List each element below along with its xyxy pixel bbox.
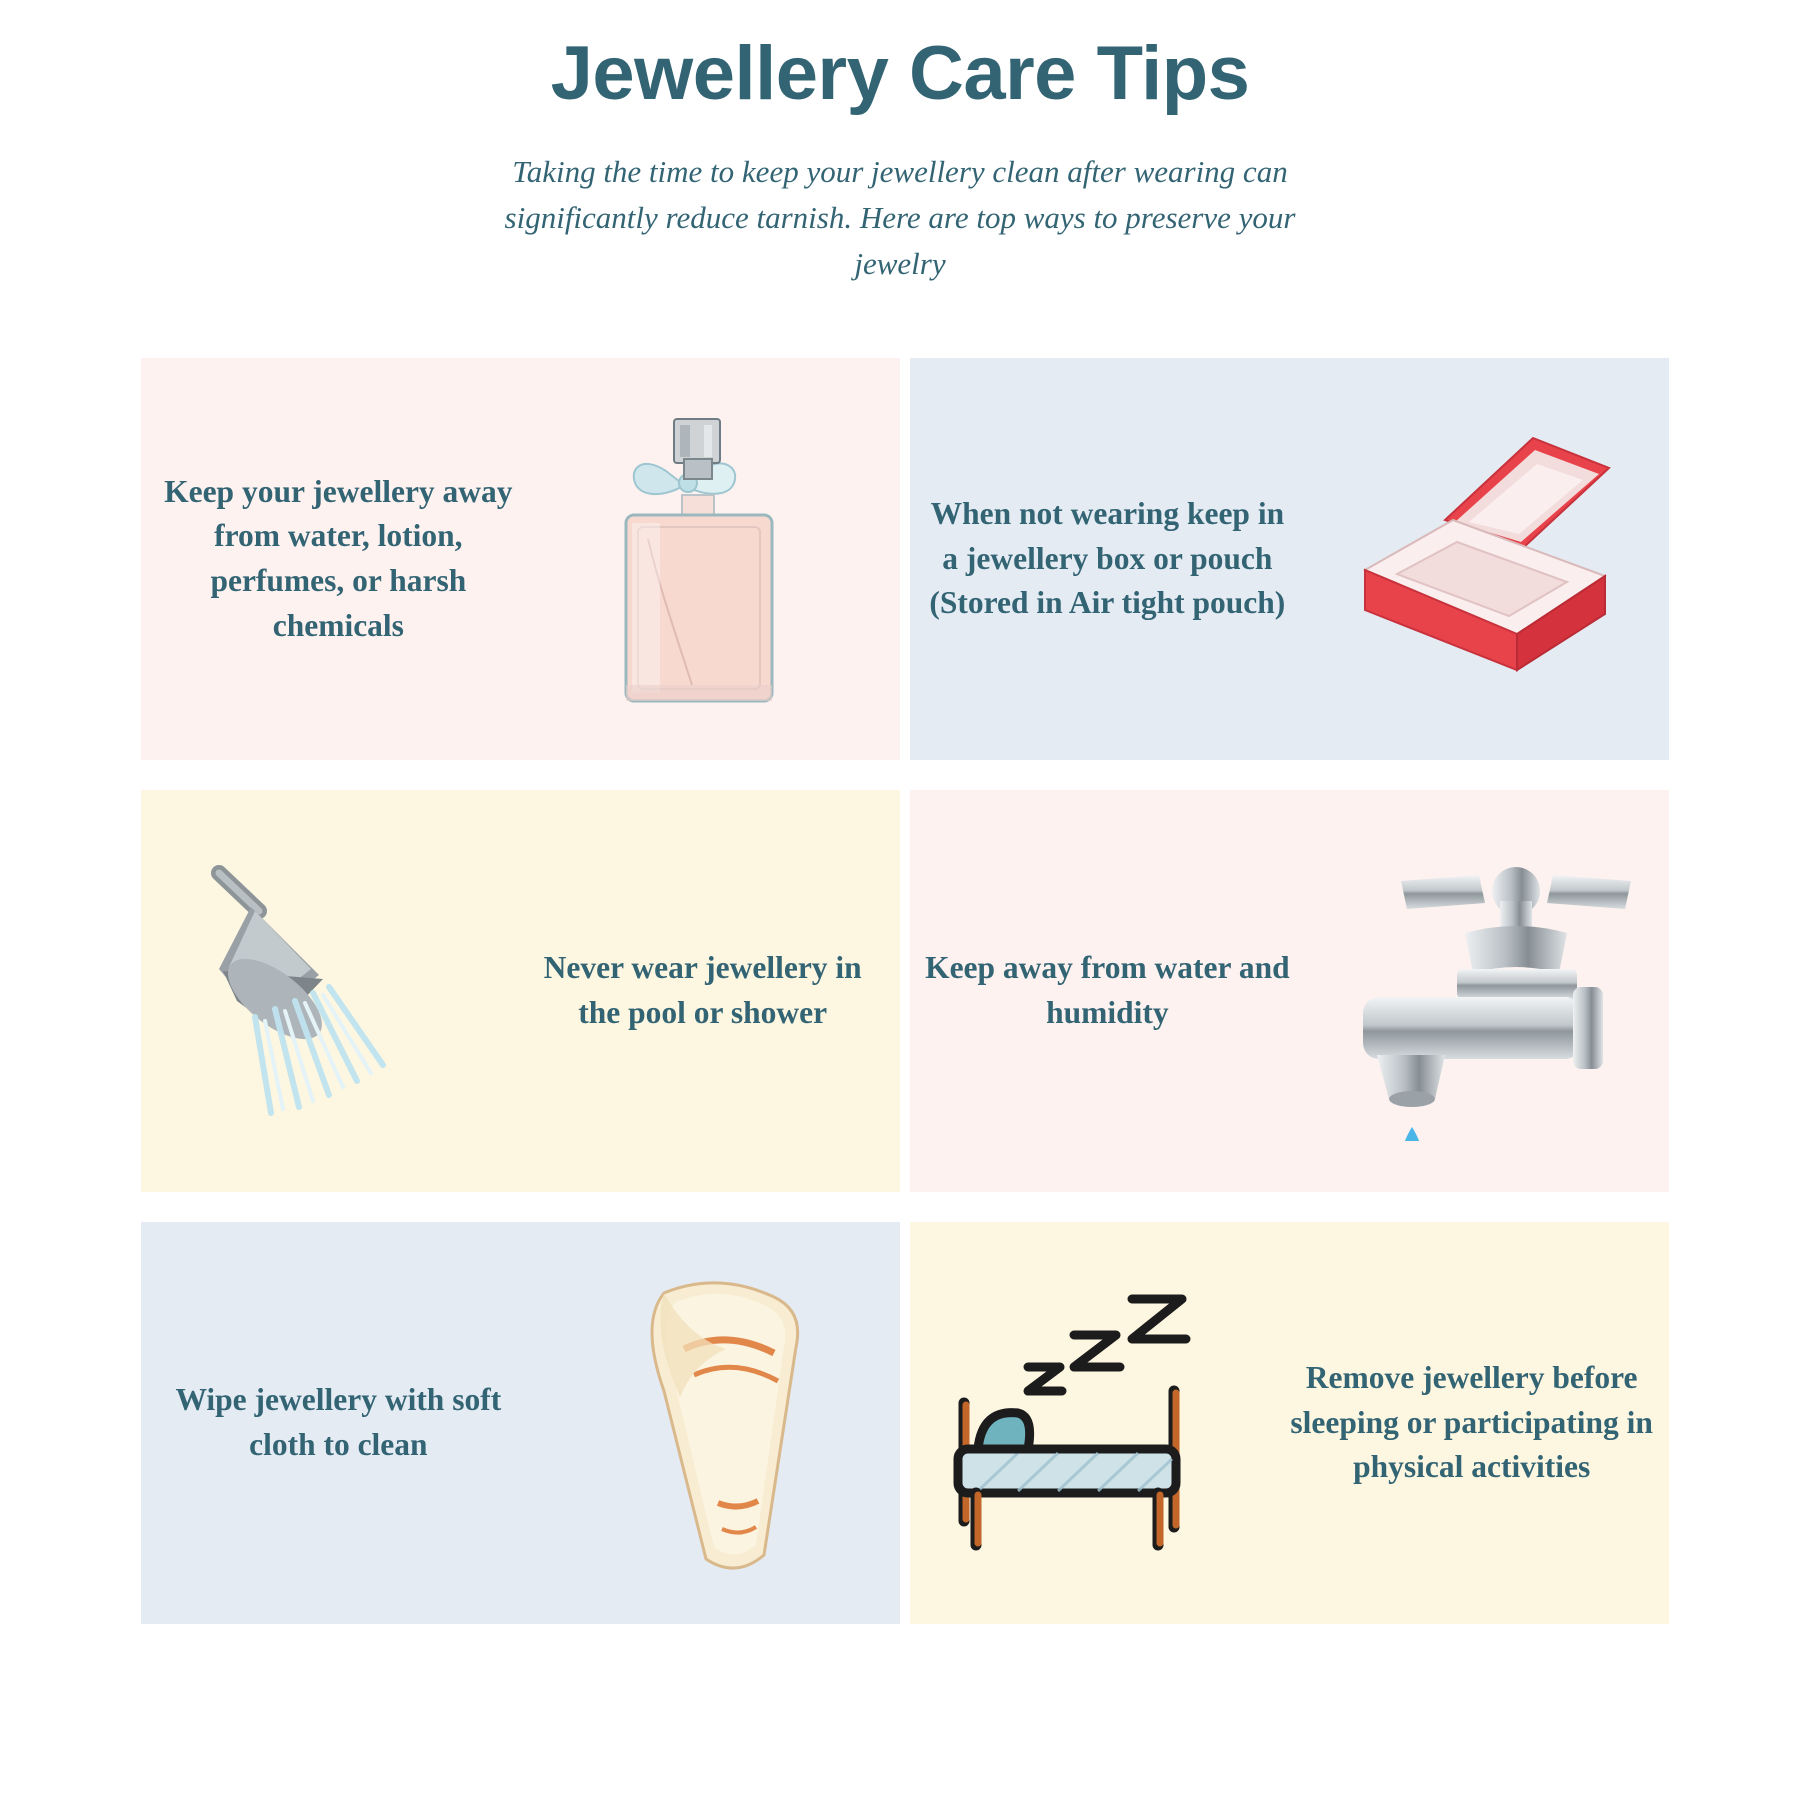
page-title: Jewellery Care Tips [0, 30, 1800, 117]
tip-card-text: When not wearing keep in a jewellery box… [910, 492, 1305, 626]
page-subtitle: Taking the time to keep your jewellery c… [500, 149, 1300, 287]
tip-card-text: Keep away from water and humidity [910, 946, 1305, 1035]
bed-sleeping-icon [910, 1222, 1274, 1624]
tips-grid: Keep your jewellery away from water, lot… [141, 358, 1640, 1624]
tip-card-wipe: Wipe jewellery with soft cloth to clean [141, 1222, 900, 1624]
tip-card-sleep: Remove jewellery before sleeping or part… [910, 1222, 1669, 1624]
tip-card-shower: Never wear jewellery in the pool or show… [141, 790, 900, 1192]
jewellery-box-icon [1305, 358, 1669, 760]
tip-card-text: Keep your jewellery away from water, lot… [141, 470, 536, 649]
cloth-icon [536, 1222, 900, 1624]
tip-card-humidity: Keep away from water and humidity [910, 790, 1669, 1192]
tip-card-text: Wipe jewellery with soft cloth to clean [141, 1378, 536, 1467]
perfume-bottle-icon [536, 358, 900, 760]
infographic-page: Jewellery Care Tips Taking the time to k… [0, 0, 1800, 1800]
tip-card-text: Remove jewellery before sleeping or part… [1274, 1356, 1669, 1490]
tip-card-chemicals: Keep your jewellery away from water, lot… [141, 358, 900, 760]
faucet-icon [1305, 790, 1669, 1192]
shower-head-icon [141, 790, 505, 1192]
tip-card-storage: When not wearing keep in a jewellery box… [910, 358, 1669, 760]
tip-card-text: Never wear jewellery in the pool or show… [505, 946, 900, 1035]
header: Jewellery Care Tips Taking the time to k… [0, 0, 1800, 287]
